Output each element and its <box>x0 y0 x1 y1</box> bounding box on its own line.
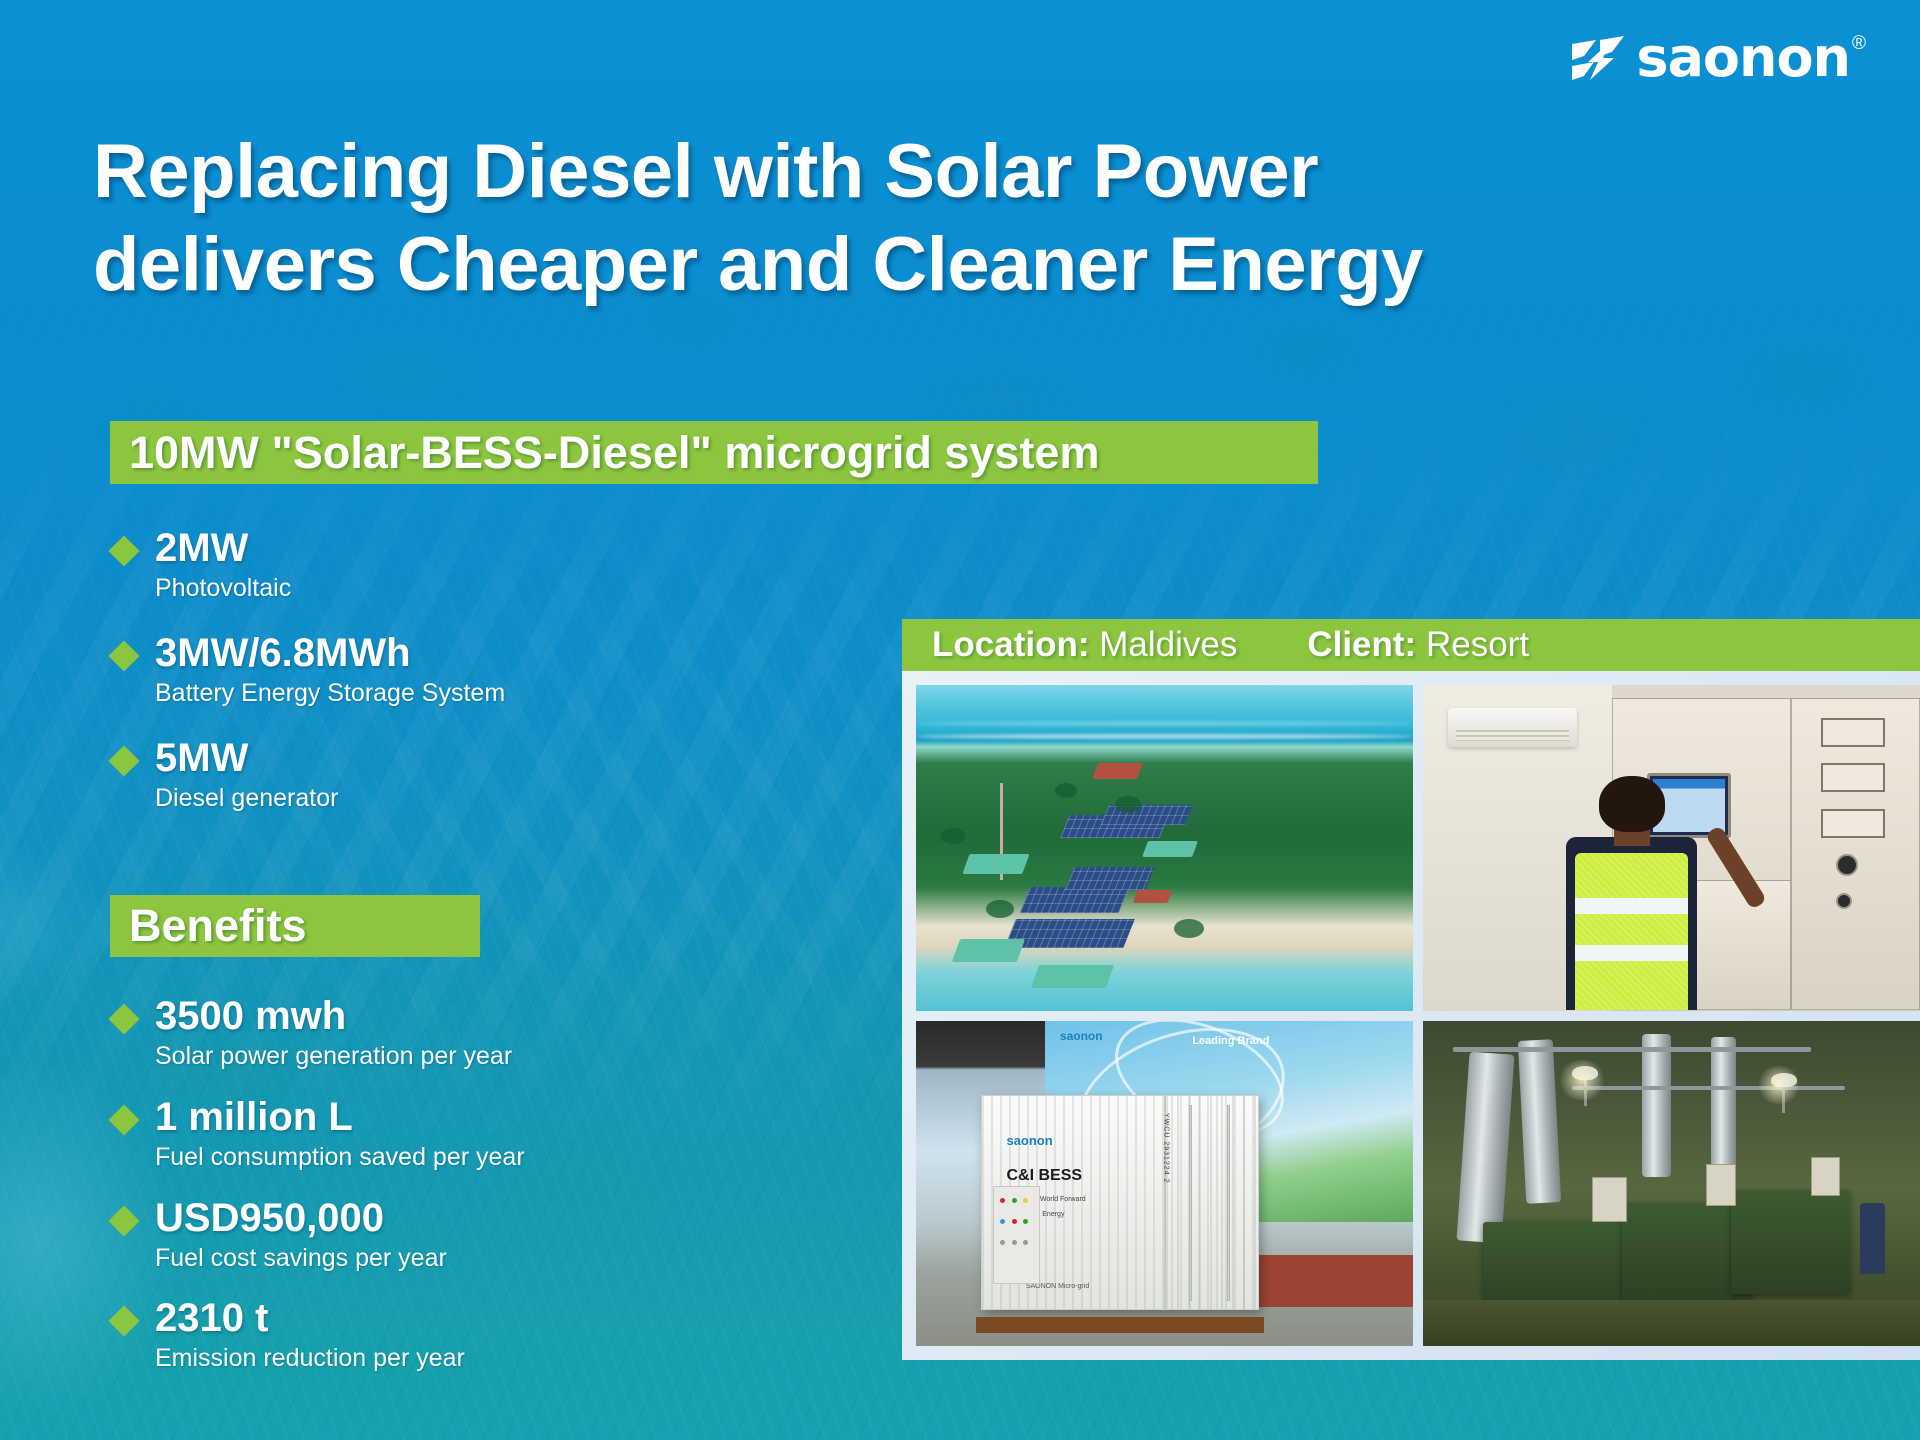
container-footer: SAONON Micro-grid <box>1026 1283 1089 1290</box>
client-value: Resort <box>1426 625 1529 664</box>
page-title-line-1: Replacing Diesel with Solar Power <box>93 126 1573 219</box>
list-item: 2MW Photovoltaic <box>113 527 813 606</box>
container-control-box <box>993 1186 1040 1284</box>
location-value: Maldives <box>1099 625 1237 664</box>
list-item: 5MW Diesel generator <box>113 737 813 816</box>
spec-list: 2MW Photovoltaic 3MW/6.8MWh Battery Ener… <box>113 527 813 841</box>
diamond-bullet-icon <box>108 1306 139 1337</box>
bess-container-body: saonon C&I BESS Power the World Forward … <box>981 1095 1259 1310</box>
list-item: 3MW/6.8MWh Battery Energy Storage System <box>113 632 813 711</box>
spec-description: Diesel generator <box>155 782 338 816</box>
photo-aerial-island-solar-rooftops <box>916 685 1413 1011</box>
benefit-description: Solar power generation per year <box>155 1040 512 1074</box>
technician-figure <box>1557 776 1706 1010</box>
client-meta: Client: Resort <box>1307 625 1529 665</box>
photo-diesel-generator-hall <box>1423 1021 1920 1347</box>
lightning-bolt-icon <box>1570 36 1630 80</box>
page-title-line-2: delivers Cheaper and Cleaner Energy <box>93 219 1573 312</box>
registered-trademark-icon: ® <box>1852 34 1866 53</box>
benefit-description: Fuel cost savings per year <box>155 1242 447 1276</box>
benefits-list: 3500 mwh Solar power generation per year… <box>113 995 813 1398</box>
diamond-bullet-icon <box>108 1205 139 1236</box>
spec-description: Battery Energy Storage System <box>155 677 505 711</box>
diamond-bullet-icon <box>108 640 139 671</box>
location-meta: Location: Maldives <box>932 625 1237 665</box>
spec-value: 5MW <box>155 736 248 780</box>
logo-wordmark: saonon <box>1636 36 1850 80</box>
company-logo: saonon ® <box>1570 36 1866 80</box>
system-banner: 10MW "Solar-BESS-Diesel" microgrid syste… <box>110 421 1318 484</box>
diamond-bullet-icon <box>108 535 139 566</box>
page-title: Replacing Diesel with Solar Power delive… <box>93 126 1573 311</box>
benefit-value: USD950,000 <box>155 1196 384 1240</box>
photo-panel: Leading Brand saonon saonon C&I BESS Pow… <box>902 671 1920 1360</box>
list-item: USD950,000 Fuel cost savings per year <box>113 1197 813 1276</box>
benefit-description: Emission reduction per year <box>155 1342 465 1376</box>
benefits-banner: Benefits <box>110 895 480 957</box>
benefit-value: 2310 t <box>155 1296 268 1340</box>
location-label: Location: <box>932 625 1089 664</box>
list-item: 2310 t Emission reduction per year <box>113 1297 813 1376</box>
photo-grid: Leading Brand saonon saonon C&I BESS Pow… <box>916 685 1920 1346</box>
benefit-value: 3500 mwh <box>155 994 346 1038</box>
diamond-bullet-icon <box>108 1104 139 1135</box>
project-meta-banner: Location: Maldives Client: Resort <box>902 619 1920 671</box>
photo-technician-control-panel <box>1423 685 1920 1011</box>
benefit-value: 1 million L <box>155 1095 353 1139</box>
diamond-bullet-icon <box>108 745 139 776</box>
spec-value: 3MW/6.8MWh <box>155 631 411 675</box>
diamond-bullet-icon <box>108 1003 139 1034</box>
container-code: YWCU 2931224 2 <box>1163 1113 1170 1215</box>
client-label: Client: <box>1307 625 1416 664</box>
spec-description: Photovoltaic <box>155 572 291 606</box>
billboard-text: Leading Brand <box>1192 1035 1269 1047</box>
container-brand: saonon <box>1006 1133 1052 1148</box>
photo-bess-container: Leading Brand saonon saonon C&I BESS Pow… <box>916 1021 1413 1347</box>
air-conditioner-unit-icon <box>1448 708 1577 747</box>
spec-value: 2MW <box>155 526 248 570</box>
slide-canvas: saonon ® Replacing Diesel with Solar Pow… <box>0 0 1920 1440</box>
list-item: 1 million L Fuel consumption saved per y… <box>113 1096 813 1175</box>
system-banner-label: 10MW "Solar-BESS-Diesel" microgrid syste… <box>129 427 1099 479</box>
billboard-brand: saonon <box>1060 1029 1103 1043</box>
list-item: 3500 mwh Solar power generation per year <box>113 995 813 1074</box>
container-title: C&I BESS <box>1006 1167 1082 1185</box>
benefit-description: Fuel consumption saved per year <box>155 1141 525 1175</box>
benefits-banner-label: Benefits <box>129 900 307 952</box>
